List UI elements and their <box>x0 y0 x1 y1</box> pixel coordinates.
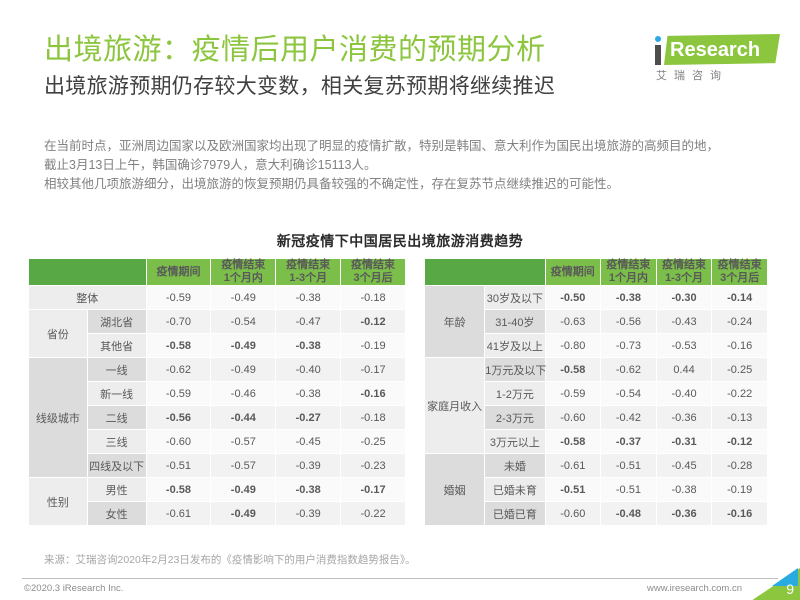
row-label-30岁及以下: 30岁及以下 <box>485 286 544 309</box>
logo-i-dot-icon <box>655 36 661 42</box>
cell-value: 0.44 <box>657 358 712 381</box>
cell-value: -0.19 <box>341 334 405 357</box>
badge-blue-triangle <box>772 568 798 586</box>
column-header-4: 疫情结束3个月后 <box>712 259 767 285</box>
cell-value: -0.60 <box>546 406 601 429</box>
row-label-已婚已育: 已婚已育 <box>485 502 544 525</box>
cell-value: -0.40 <box>276 358 340 381</box>
cell-value: -0.45 <box>276 430 340 453</box>
logo-research-text: Research <box>670 37 778 63</box>
table-row: 家庭月收入1万元及以下-0.58-0.620.44-0.25 <box>425 358 767 381</box>
row-label-男性: 男性 <box>88 478 146 501</box>
row-label-3万元以上: 3万元以上 <box>485 430 544 453</box>
cell-value: -0.23 <box>341 454 405 477</box>
cell-value: -0.47 <box>276 310 340 333</box>
column-header-line: 疫情期间 <box>147 266 211 279</box>
cell-value: -0.12 <box>712 430 767 453</box>
row-label-31-40岁: 31-40岁 <box>485 310 544 333</box>
logo-chinese-text: 艾瑞咨询 <box>656 67 780 83</box>
cell-value: -0.80 <box>546 334 601 357</box>
row-label-女性: 女性 <box>88 502 146 525</box>
column-header-line: 疫情结束 <box>712 259 767 272</box>
cell-value: -0.73 <box>601 334 656 357</box>
cell-value: -0.54 <box>211 310 275 333</box>
cell-value: -0.42 <box>601 406 656 429</box>
cell-value: -0.51 <box>601 478 656 501</box>
cell-value: -0.56 <box>601 310 656 333</box>
column-header-2: 疫情结束1个月内 <box>601 259 656 285</box>
logo-i-stem-icon <box>655 45 661 65</box>
footer-website: www.iresearch.com.cn <box>647 583 742 594</box>
cell-value: -0.63 <box>546 310 601 333</box>
cell-value: -0.45 <box>657 454 712 477</box>
table-row: 整体-0.59-0.49-0.38-0.18 <box>29 286 405 309</box>
cell-value: -0.25 <box>712 358 767 381</box>
column-header-line: 1-3个月 <box>276 272 340 285</box>
column-header-1: 疫情期间 <box>546 259 601 285</box>
cell-value: -0.16 <box>712 334 767 357</box>
footer-copyright: ©2020.3 iResearch Inc. <box>24 583 123 594</box>
body-line-2: 截止3月13日上午，韩国确诊7979人，意大利确诊15113人。 <box>44 156 764 175</box>
cell-value: -0.51 <box>147 454 211 477</box>
row-label-1-2万元: 1-2万元 <box>485 382 544 405</box>
group-label-年龄: 年龄 <box>425 286 484 357</box>
cell-value: -0.30 <box>657 286 712 309</box>
cell-value: -0.51 <box>546 478 601 501</box>
cell-value: -0.25 <box>341 430 405 453</box>
cell-value: -0.44 <box>211 406 275 429</box>
cell-value: -0.38 <box>276 382 340 405</box>
table-row: 线级城市一线-0.62-0.49-0.40-0.17 <box>29 358 405 381</box>
page-number-badge: 9 <box>742 568 800 600</box>
cell-value: -0.18 <box>341 406 405 429</box>
cell-value: -0.24 <box>712 310 767 333</box>
cell-value: -0.22 <box>712 382 767 405</box>
group-label-线级城市: 线级城市 <box>29 358 87 477</box>
cell-value: -0.50 <box>546 286 601 309</box>
table-header-row: 疫情期间疫情结束1个月内疫情结束1-3个月疫情结束3个月后 <box>425 259 767 285</box>
cell-value: -0.38 <box>276 334 340 357</box>
row-label-41岁及以上: 41岁及以上 <box>485 334 544 357</box>
column-header-line: 1个月内 <box>211 272 275 285</box>
cell-value: -0.17 <box>341 478 405 501</box>
column-header-line: 疫情结束 <box>211 259 275 272</box>
row-label-一线: 一线 <box>88 358 146 381</box>
table-row: 婚姻未婚-0.61-0.51-0.45-0.28 <box>425 454 767 477</box>
chart-title: 新冠疫情下中国居民出境旅游消费趋势 <box>0 231 800 251</box>
cell-value: -0.58 <box>147 334 211 357</box>
column-header-line: 疫情结束 <box>657 259 712 272</box>
page-title: 出境旅游：疫情后用户消费的预期分析 <box>44 32 555 68</box>
cell-value: -0.56 <box>147 406 211 429</box>
row-label-1万元及以下: 1万元及以下 <box>485 358 544 381</box>
cell-value: -0.39 <box>276 502 340 525</box>
cell-value: -0.19 <box>712 478 767 501</box>
slide: 出境旅游：疫情后用户消费的预期分析 出境旅游预期仍存较大变数，相关复苏预期将继续… <box>0 0 800 600</box>
row-label-三线: 三线 <box>88 430 146 453</box>
column-header-4: 疫情结束3个月后 <box>341 259 405 285</box>
column-header-line: 疫情结束 <box>341 259 405 272</box>
cell-value: -0.54 <box>601 382 656 405</box>
table-left: 疫情期间疫情结束1个月内疫情结束1-3个月疫情结束3个月后整体-0.59-0.4… <box>28 258 406 526</box>
column-header-line: 3个月后 <box>712 272 767 285</box>
table-row: 省份湖北省-0.70-0.54-0.47-0.12 <box>29 310 405 333</box>
row-label-四线及以下: 四线及以下 <box>88 454 146 477</box>
cell-value: -0.13 <box>712 406 767 429</box>
cell-value: -0.22 <box>341 502 405 525</box>
data-tables: 疫情期间疫情结束1个月内疫情结束1-3个月疫情结束3个月后整体-0.59-0.4… <box>28 258 772 526</box>
header-blank-cell <box>29 259 146 285</box>
row-label-2-3万元: 2-3万元 <box>485 406 544 429</box>
row-label-其他省: 其他省 <box>88 334 146 357</box>
column-header-line: 1个月内 <box>601 272 656 285</box>
cell-value: -0.38 <box>276 478 340 501</box>
column-header-3: 疫情结束1-3个月 <box>657 259 712 285</box>
body-paragraph: 在当前时点，亚洲周边国家以及欧洲国家均出现了明显的疫情扩散，特别是韩国、意大利作… <box>44 137 764 194</box>
row-label-新一线: 新一线 <box>88 382 146 405</box>
cell-value: -0.49 <box>211 286 275 309</box>
page-subtitle: 出境旅游预期仍存较大变数，相关复苏预期将继续推迟 <box>44 72 555 102</box>
column-header-line: 1-3个月 <box>657 272 712 285</box>
row-label-湖北省: 湖北省 <box>88 310 146 333</box>
cell-value: -0.28 <box>712 454 767 477</box>
cell-value: -0.40 <box>657 382 712 405</box>
cell-value: -0.49 <box>211 334 275 357</box>
cell-value: -0.14 <box>712 286 767 309</box>
cell-value: -0.49 <box>211 478 275 501</box>
cell-value: -0.51 <box>601 454 656 477</box>
cell-value: -0.16 <box>341 382 405 405</box>
column-header-line: 疫情结束 <box>601 259 656 272</box>
header-blank-cell <box>425 259 545 285</box>
cell-value: -0.59 <box>147 286 211 309</box>
cell-value: -0.27 <box>276 406 340 429</box>
cell-value: -0.70 <box>147 310 211 333</box>
cell-value: -0.48 <box>601 502 656 525</box>
cell-value: -0.61 <box>546 454 601 477</box>
group-label-省份: 省份 <box>29 310 87 357</box>
cell-value: -0.60 <box>147 430 211 453</box>
column-header-line: 3个月后 <box>341 272 405 285</box>
row-label-整体: 整体 <box>29 286 146 309</box>
cell-value: -0.59 <box>546 382 601 405</box>
slide-header: 出境旅游：疫情后用户消费的预期分析 出境旅游预期仍存较大变数，相关复苏预期将继续… <box>44 32 780 102</box>
row-label-已婚未育: 已婚未育 <box>485 478 544 501</box>
table-row: 年龄30岁及以下-0.50-0.38-0.30-0.14 <box>425 286 767 309</box>
cell-value: -0.36 <box>657 406 712 429</box>
body-line-1: 在当前时点，亚洲周边国家以及欧洲国家均出现了明显的疫情扩散，特别是韩国、意大利作… <box>44 137 764 156</box>
table-gap <box>406 258 424 526</box>
cell-value: -0.38 <box>276 286 340 309</box>
cell-value: -0.57 <box>211 430 275 453</box>
cell-value: -0.62 <box>601 358 656 381</box>
cell-value: -0.62 <box>147 358 211 381</box>
cell-value: -0.57 <box>211 454 275 477</box>
cell-value: -0.38 <box>657 478 712 501</box>
source-note: 来源：艾瑞咨询2020年2月23日发布的《疫情影响下的用户消费指数趋势报告》。 <box>44 552 416 567</box>
column-header-3: 疫情结束1-3个月 <box>276 259 340 285</box>
cell-value: -0.43 <box>657 310 712 333</box>
cell-value: -0.39 <box>276 454 340 477</box>
column-header-1: 疫情期间 <box>147 259 211 285</box>
cell-value: -0.58 <box>546 358 601 381</box>
row-label-未婚: 未婚 <box>485 454 544 477</box>
cell-value: -0.18 <box>341 286 405 309</box>
cell-value: -0.58 <box>147 478 211 501</box>
group-label-家庭月收入: 家庭月收入 <box>425 358 484 453</box>
row-label-二线: 二线 <box>88 406 146 429</box>
iresearch-logo: Research 艾瑞咨询 <box>652 34 780 84</box>
footer-divider <box>22 578 778 579</box>
table-header-row: 疫情期间疫情结束1个月内疫情结束1-3个月疫情结束3个月后 <box>29 259 405 285</box>
column-header-2: 疫情结束1个月内 <box>211 259 275 285</box>
table-row: 性别男性-0.58-0.49-0.38-0.17 <box>29 478 405 501</box>
cell-value: -0.17 <box>341 358 405 381</box>
cell-value: -0.38 <box>601 286 656 309</box>
cell-value: -0.58 <box>546 430 601 453</box>
logo-mark: Research <box>652 34 780 66</box>
cell-value: -0.46 <box>211 382 275 405</box>
cell-value: -0.12 <box>341 310 405 333</box>
cell-value: -0.59 <box>147 382 211 405</box>
page-number: 9 <box>786 581 794 597</box>
body-line-3: 相较其他几项旅游细分，出境旅游的恢复预期仍具备较强的不确定性，存在复苏节点继续推… <box>44 175 764 194</box>
cell-value: -0.49 <box>211 502 275 525</box>
group-label-婚姻: 婚姻 <box>425 454 484 525</box>
group-label-性别: 性别 <box>29 478 87 525</box>
cell-value: -0.16 <box>712 502 767 525</box>
table-right: 疫情期间疫情结束1个月内疫情结束1-3个月疫情结束3个月后年龄30岁及以下-0.… <box>424 258 768 526</box>
cell-value: -0.37 <box>601 430 656 453</box>
column-header-line: 疫情结束 <box>276 259 340 272</box>
cell-value: -0.36 <box>657 502 712 525</box>
cell-value: -0.60 <box>546 502 601 525</box>
cell-value: -0.49 <box>211 358 275 381</box>
column-header-line: 疫情期间 <box>546 266 601 279</box>
cell-value: -0.61 <box>147 502 211 525</box>
cell-value: -0.53 <box>657 334 712 357</box>
cell-value: -0.31 <box>657 430 712 453</box>
